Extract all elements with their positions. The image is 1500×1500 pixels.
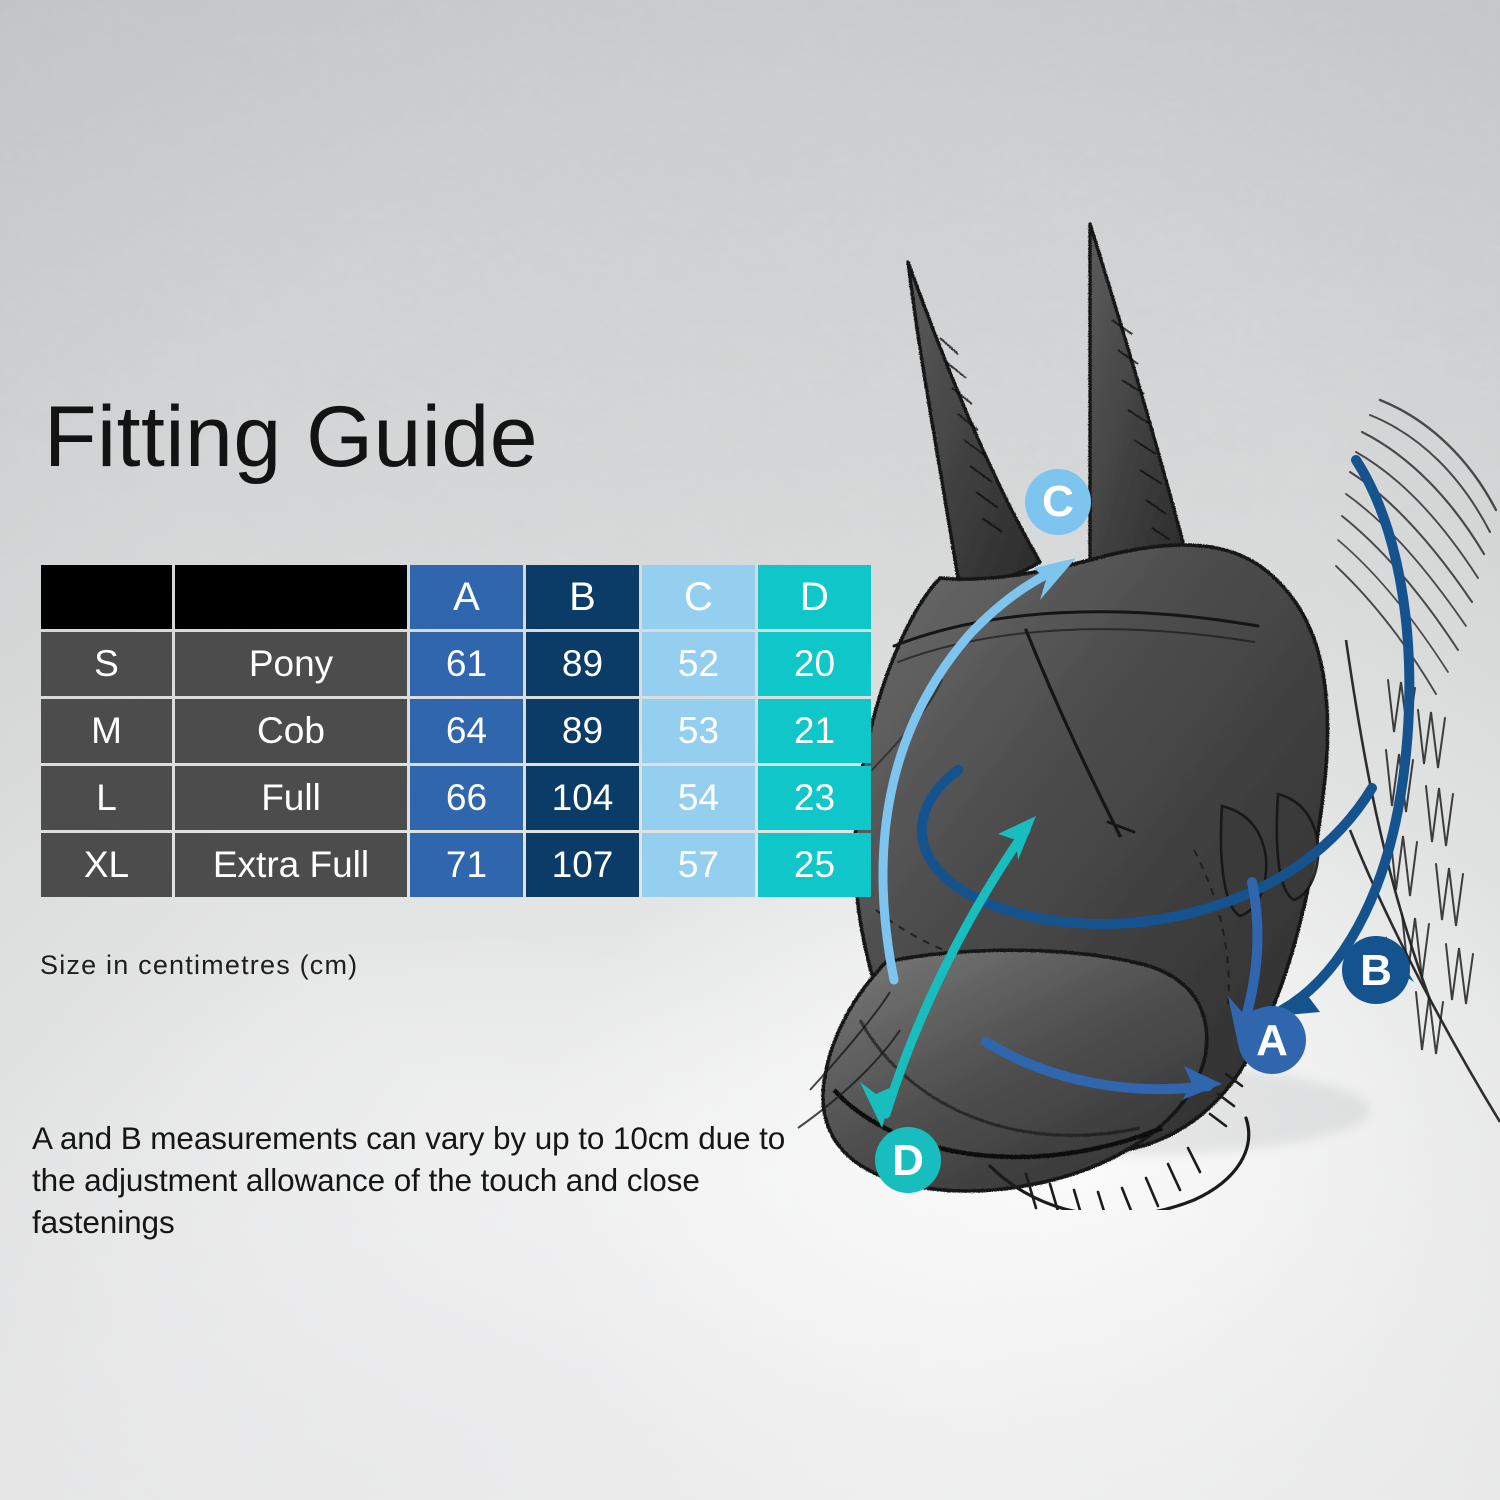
cell-c: 54 bbox=[642, 766, 755, 830]
table-row: M Cob 64 89 53 21 bbox=[41, 699, 871, 763]
table-row: L Full 66 104 54 23 bbox=[41, 766, 871, 830]
cell-size: S bbox=[41, 632, 172, 696]
cell-d: 23 bbox=[758, 766, 871, 830]
header-measure-c: C bbox=[642, 565, 755, 629]
measure-marker-b-label: B bbox=[1360, 946, 1392, 995]
measure-marker-d-label: D bbox=[892, 1136, 924, 1185]
horse-ear-left bbox=[908, 262, 1040, 581]
cell-a: 71 bbox=[410, 833, 523, 897]
header-blank-name bbox=[175, 565, 407, 629]
header-measure-b: B bbox=[526, 565, 639, 629]
measure-marker-c: C bbox=[1025, 469, 1091, 535]
measure-marker-a: A bbox=[1238, 1006, 1306, 1074]
header-measure-a: A bbox=[410, 565, 523, 629]
cell-size: M bbox=[41, 699, 172, 763]
cell-b: 89 bbox=[526, 632, 639, 696]
horse-fly-mask-illustration: C B A bbox=[790, 210, 1500, 1210]
cell-name: Extra Full bbox=[175, 833, 407, 897]
measure-marker-c-label: C bbox=[1042, 477, 1074, 526]
measure-marker-b: B bbox=[1342, 936, 1410, 1004]
horse-mane bbox=[1336, 400, 1496, 694]
fitting-guide-page: Fitting Guide A B C D S Pony 61 89 52 20 bbox=[0, 0, 1500, 1500]
cell-c: 57 bbox=[642, 833, 755, 897]
table-caption: Size in centimetres (cm) bbox=[40, 950, 358, 981]
horse-ear-right bbox=[1090, 224, 1186, 582]
cell-size: XL bbox=[41, 833, 172, 897]
cell-d: 21 bbox=[758, 699, 871, 763]
cell-b: 104 bbox=[526, 766, 639, 830]
cell-name: Full bbox=[175, 766, 407, 830]
cell-name: Pony bbox=[175, 632, 407, 696]
header-measure-d: D bbox=[758, 565, 871, 629]
cell-d: 25 bbox=[758, 833, 871, 897]
cell-a: 66 bbox=[410, 766, 523, 830]
cell-c: 53 bbox=[642, 699, 755, 763]
cell-d: 20 bbox=[758, 632, 871, 696]
table-row: XL Extra Full 71 107 57 25 bbox=[41, 833, 871, 897]
measure-marker-d: D bbox=[875, 1127, 941, 1193]
cell-name: Cob bbox=[175, 699, 407, 763]
measure-marker-a-label: A bbox=[1256, 1016, 1288, 1065]
cell-c: 52 bbox=[642, 632, 755, 696]
table-row: S Pony 61 89 52 20 bbox=[41, 632, 871, 696]
cell-b: 89 bbox=[526, 699, 639, 763]
measurement-footnote: A and B measurements can vary by up to 1… bbox=[32, 1118, 832, 1244]
table-header-row: A B C D bbox=[41, 565, 871, 629]
cell-a: 61 bbox=[410, 632, 523, 696]
sizing-table: A B C D S Pony 61 89 52 20 M Cob 64 89 5… bbox=[38, 562, 874, 900]
header-blank-size bbox=[41, 565, 172, 629]
page-title: Fitting Guide bbox=[44, 394, 538, 480]
cell-a: 64 bbox=[410, 699, 523, 763]
cell-size: L bbox=[41, 766, 172, 830]
cell-b: 107 bbox=[526, 833, 639, 897]
